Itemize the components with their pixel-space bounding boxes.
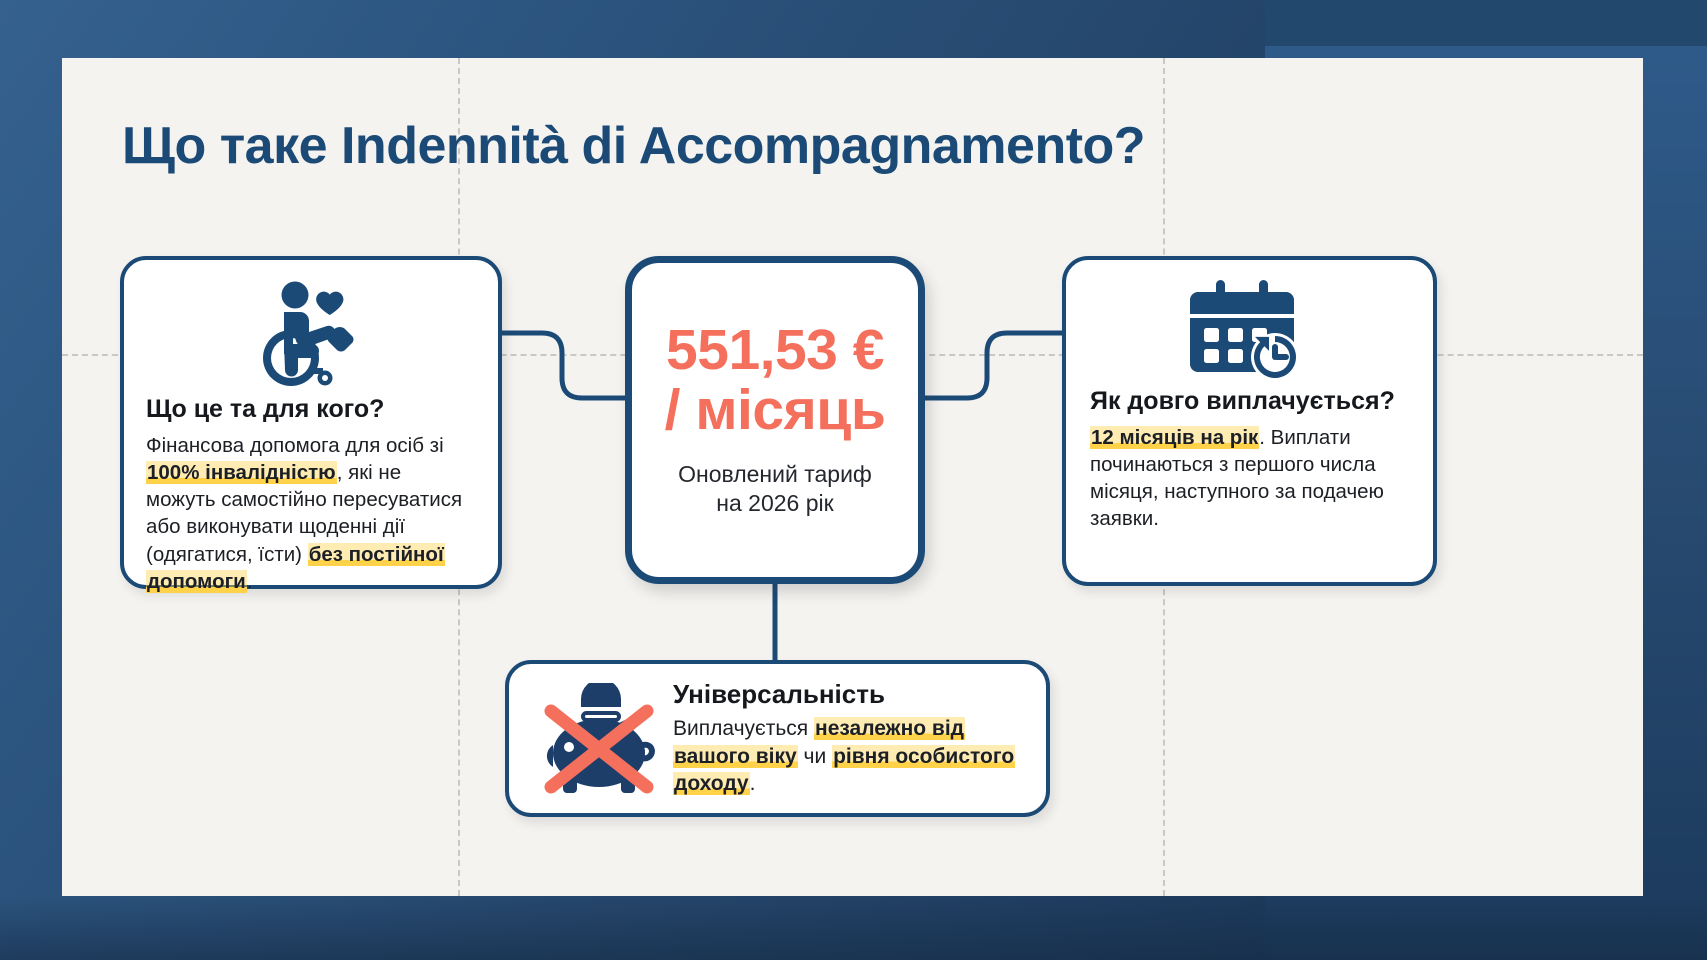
slide-backdrop: Що таке Indennità di Accompagnamento?	[0, 0, 1707, 960]
card-right-highlight-1: 12 місяців на рік	[1090, 426, 1259, 449]
amount-subtitle: Оновлений тариф на 2026 рік	[678, 460, 872, 520]
card-right-heading: Як довго виплачується?	[1090, 388, 1409, 416]
card-bottom-body-seg2: чи	[798, 745, 832, 768]
card-how-long-paid: Як довго виплачується? 12 місяців на рік…	[1062, 256, 1437, 586]
card-bottom-text: Універсальність Виплачується незалежно в…	[673, 679, 1020, 799]
card-what-and-for-whom: Що це та для кого? Фінансова допомога дл…	[120, 256, 502, 589]
amount-subtitle-line2: на 2026 рік	[678, 489, 872, 519]
card-bottom-body: Виплачується незалежно від вашого віку ч…	[673, 715, 1020, 799]
card-left-body-seg1: Фінансова допомога для осіб зі	[146, 434, 444, 457]
card-bottom-heading: Універсальність	[673, 679, 1020, 710]
card-bottom-body-seg3: .	[750, 772, 756, 795]
card-left-highlight-1: 100% інвалідністю	[146, 461, 337, 484]
card-right-body: 12 місяців на рік. Виплати починаються з…	[1090, 424, 1409, 533]
amount-period: / місяць	[665, 379, 886, 442]
card-left-body-seg3: .	[247, 570, 253, 593]
card-left-heading: Що це та для кого?	[146, 396, 476, 424]
backdrop-band-corner	[1265, 0, 1707, 46]
calendar-clock-icon	[1190, 278, 1310, 382]
card-left-body: Фінансова допомога для осіб зі 100% інва…	[146, 432, 476, 596]
card-monthly-amount: 551,53 € / місяць Оновлений тариф на 202…	[625, 256, 925, 584]
card-universality: Універсальність Виплачується незалежно в…	[505, 660, 1050, 817]
piggy-bank-crossed-icon	[535, 683, 655, 795]
amount-subtitle-line1: Оновлений тариф	[678, 460, 872, 490]
amount-value: 551,53 €	[666, 321, 884, 379]
slide-canvas: Що таке Indennità di Accompagnamento?	[62, 58, 1643, 896]
backdrop-band-bottom	[0, 898, 1707, 960]
wheelchair-heart-icon	[251, 278, 371, 390]
card-bottom-body-seg1: Виплачується	[673, 717, 814, 740]
